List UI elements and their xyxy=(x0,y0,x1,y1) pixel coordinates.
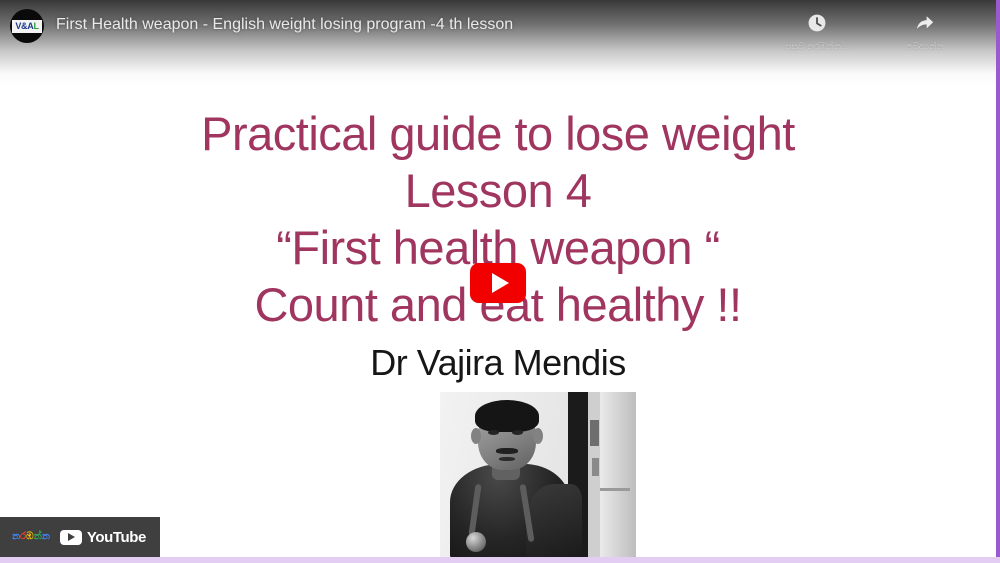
video-title[interactable]: First Health weapon - English weight los… xyxy=(56,15,780,34)
youtube-wordmark: YouTube xyxy=(87,530,146,545)
youtube-lockup: YouTube xyxy=(60,530,146,545)
avatar-letter-l: L xyxy=(33,22,38,31)
channel-avatar-logo: V & A L xyxy=(12,20,42,33)
share-label: බෙදාගන්න xyxy=(906,41,944,52)
photo-mouth xyxy=(499,457,515,461)
photo-eye-right xyxy=(512,430,523,435)
video-thumbnail[interactable]: Practical guide to lose weight Lesson 4 … xyxy=(0,0,996,557)
photo-hair xyxy=(475,400,539,432)
photo-shelf-b xyxy=(592,458,599,476)
slide-line-2: Lesson 4 xyxy=(0,162,996,219)
player-header: V & A L First Health weapon - English we… xyxy=(0,0,996,56)
slide-text-block: Practical guide to lose weight Lesson 4 … xyxy=(0,105,996,386)
channel-avatar[interactable]: V & A L xyxy=(10,9,44,43)
photo-stethoscope-bell xyxy=(466,532,486,552)
presenter-photo xyxy=(440,392,636,557)
photo-doorframe-edge xyxy=(600,392,636,557)
slide-byline: Dr Vajira Mendis xyxy=(0,333,996,386)
watch-on-label: නරඹන්න xyxy=(12,532,50,542)
share-arrow-icon xyxy=(913,11,937,35)
clock-icon xyxy=(805,11,829,35)
youtube-embedded-player[interactable]: Practical guide to lose weight Lesson 4 … xyxy=(0,0,1000,563)
photo-ear-left xyxy=(471,428,481,444)
photo-ear-right xyxy=(533,428,543,444)
watch-on-youtube-button[interactable]: නරඹන්න YouTube xyxy=(0,517,160,557)
watch-later-button[interactable]: පසුව නරඹන්න... xyxy=(780,11,854,52)
page-right-accent-rule xyxy=(996,0,1000,557)
header-actions: පසුව නරඹන්න... බෙදාගන්න xyxy=(780,11,962,52)
youtube-play-icon xyxy=(60,530,82,545)
photo-shelf-c xyxy=(600,488,630,491)
play-button[interactable] xyxy=(470,263,526,303)
youtube-play-triangle xyxy=(68,533,75,541)
photo-moustache xyxy=(496,448,518,454)
share-button[interactable]: බෙදාගන්න xyxy=(888,11,962,52)
photo-shoulder xyxy=(526,484,582,557)
photo-shelf-a xyxy=(590,420,599,446)
watch-later-label: පසුව නරඹන්න... xyxy=(785,41,848,52)
play-triangle-icon xyxy=(492,273,509,293)
photo-eye-left xyxy=(488,430,499,435)
page-bottom-accent-strip xyxy=(0,557,1000,563)
slide-line-1: Practical guide to lose weight xyxy=(0,105,996,162)
